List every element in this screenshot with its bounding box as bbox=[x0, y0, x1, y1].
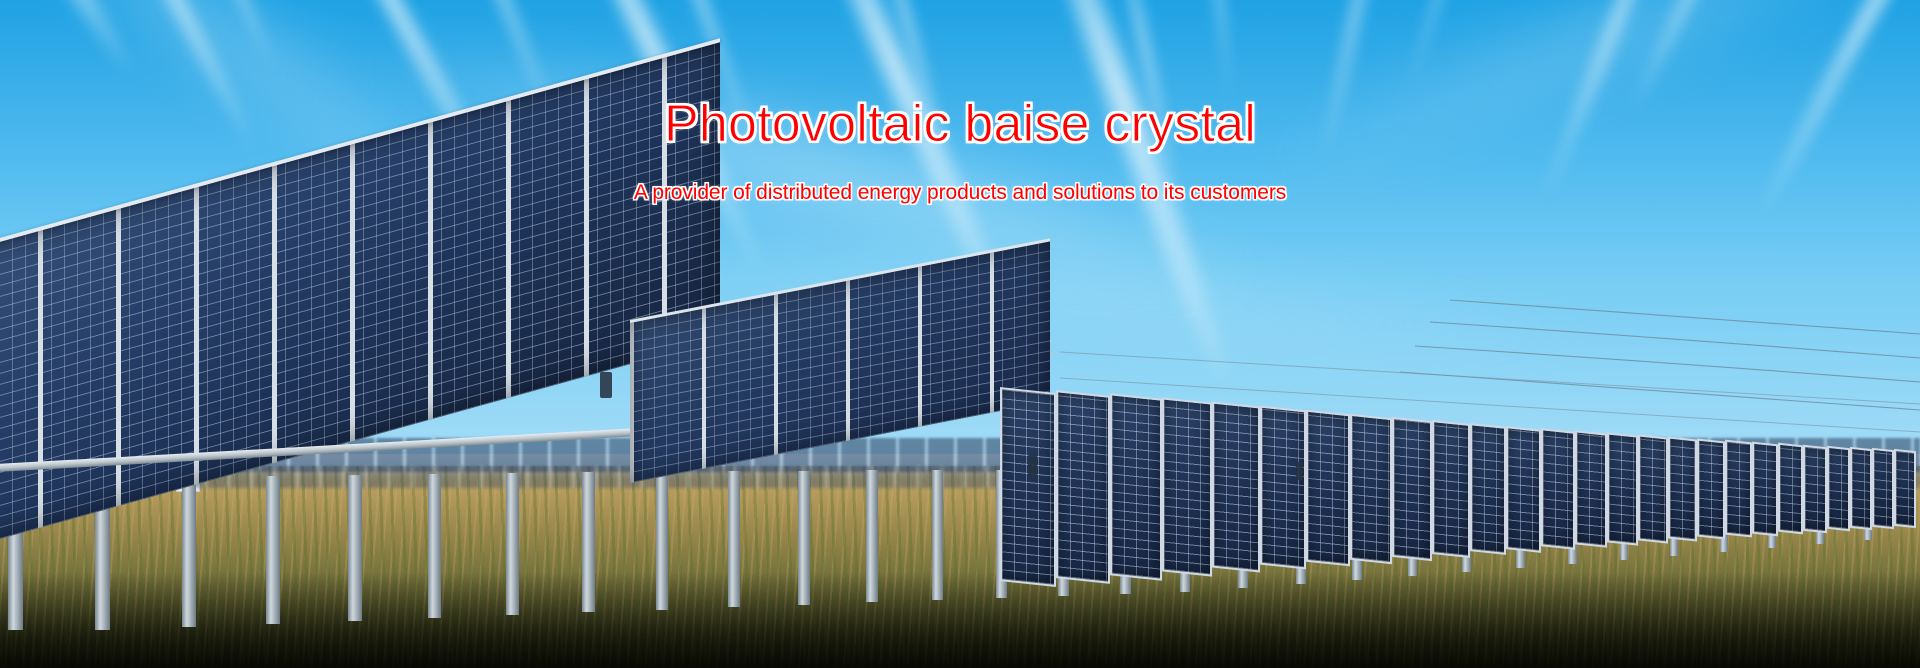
panel-row bbox=[1803, 445, 1827, 534]
panel-row bbox=[1000, 387, 1056, 587]
panel-support-post bbox=[728, 471, 740, 607]
panel-row bbox=[1725, 440, 1752, 538]
panel-row bbox=[1575, 430, 1607, 547]
page-title: Photovoltaic baise crystal bbox=[0, 97, 1920, 152]
panel-row bbox=[1470, 423, 1506, 555]
panel-row bbox=[1752, 442, 1778, 537]
panel-row bbox=[1162, 397, 1212, 576]
panel-row bbox=[1827, 446, 1850, 531]
panel-support-post bbox=[182, 477, 196, 627]
panel-row bbox=[1212, 401, 1260, 572]
panel-row bbox=[1872, 448, 1894, 529]
panel-support-post bbox=[582, 472, 595, 612]
junction-box bbox=[1296, 462, 1303, 480]
panel-row bbox=[1432, 420, 1470, 558]
panel-support-post bbox=[348, 475, 362, 621]
panel-row bbox=[1350, 414, 1392, 564]
panel-row bbox=[1506, 426, 1541, 553]
panel-row bbox=[1697, 439, 1725, 540]
panel-row bbox=[1607, 432, 1638, 545]
panel-support-post bbox=[866, 470, 878, 602]
panel-support-post bbox=[798, 471, 810, 605]
junction-box bbox=[1028, 455, 1037, 477]
panel-support-post bbox=[506, 473, 519, 615]
panel-row bbox=[1778, 443, 1803, 535]
panel-support-post bbox=[932, 470, 943, 600]
panel-support-post bbox=[428, 474, 441, 618]
panel-row bbox=[1638, 434, 1668, 543]
panel-row bbox=[1894, 449, 1916, 528]
panel-support-post bbox=[656, 472, 668, 610]
panel-row bbox=[1306, 410, 1350, 567]
hero-banner: Photovoltaic baise crystal A provider of… bbox=[0, 0, 1920, 668]
junction-box bbox=[600, 372, 612, 398]
panel-support-post bbox=[266, 476, 280, 624]
panel-row bbox=[1392, 417, 1432, 561]
panel-row bbox=[1850, 447, 1872, 530]
panel-row bbox=[1056, 390, 1110, 584]
panel-row bbox=[1110, 393, 1162, 580]
page-subtitle: A provider of distributed energy product… bbox=[0, 180, 1920, 205]
panel-row bbox=[1260, 406, 1306, 570]
panel-row bbox=[1541, 428, 1575, 550]
panel-row bbox=[1668, 436, 1697, 541]
